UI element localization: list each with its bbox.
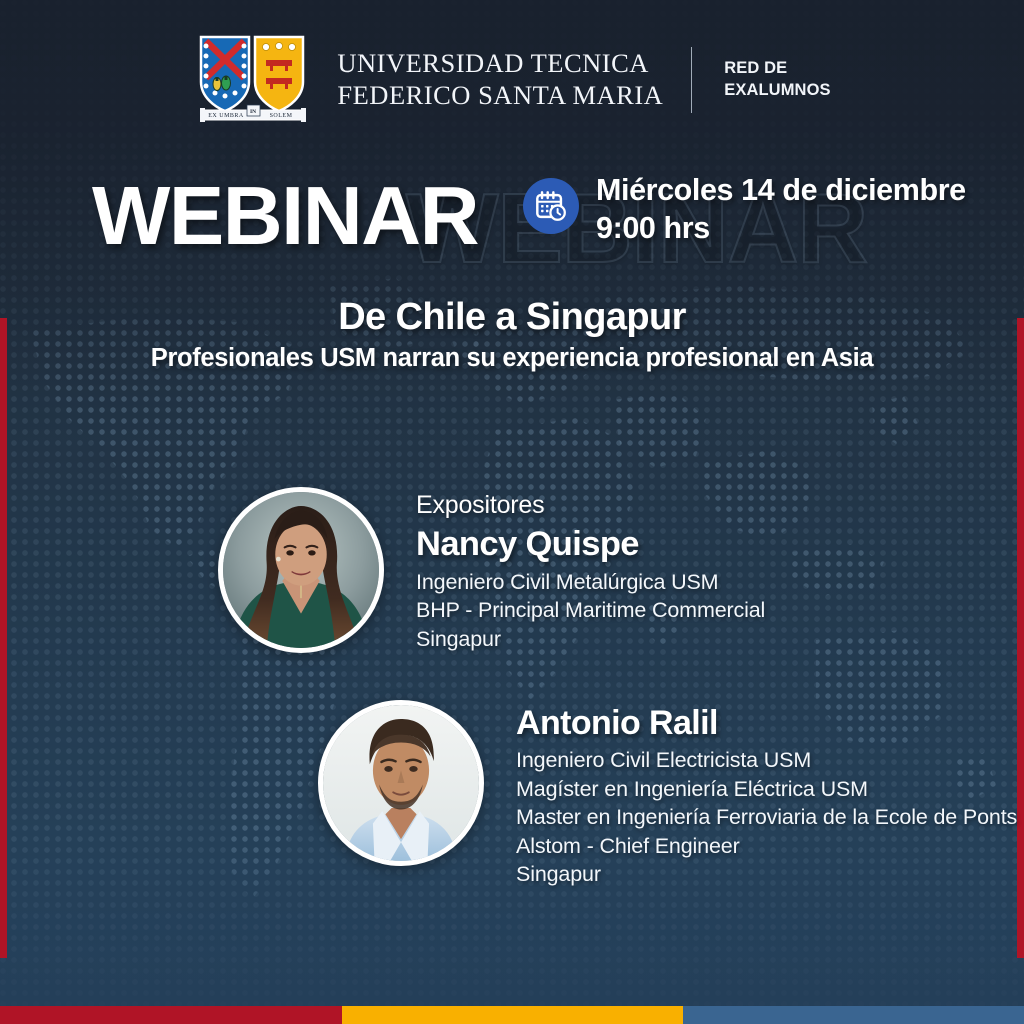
speaker-photo-antonio-ralil (318, 700, 484, 866)
speaker-detail-line: Singapur (516, 860, 1017, 889)
speakers-eyebrow-label: Expositores (416, 491, 765, 520)
speaker-detail-line: Singapur (416, 625, 765, 654)
university-name: UNIVERSIDAD TECNICA FEDERICO SANTA MARIA (337, 48, 663, 112)
footer-stripe-red (0, 1006, 342, 1024)
header-divider (691, 47, 692, 113)
speaker-card-nancy-quispe: Expositores Nancy Quispe Ingeniero Civil… (218, 487, 765, 653)
speaker-name: Antonio Ralil (516, 704, 1017, 742)
calendar-clock-icon (523, 178, 579, 234)
university-name-line-2: FEDERICO SANTA MARIA (337, 80, 663, 112)
webinar-poster: IN EX UMBRA SOLEM UNIVERSIDAD TECNICA FE… (0, 0, 1024, 1024)
brand-header: IN EX UMBRA SOLEM UNIVERSIDAD TECNICA FE… (0, 34, 1024, 126)
university-name-line-1: UNIVERSIDAD TECNICA (337, 48, 663, 80)
webinar-time: 9:00 hrs (596, 210, 966, 248)
svg-text:IN: IN (250, 109, 256, 115)
speaker-info-nancy-quispe: Expositores Nancy Quispe Ingeniero Civil… (416, 487, 765, 653)
footer-color-bar (0, 1006, 1024, 1024)
alumni-network-label: RED DE EXALUMNOS (724, 58, 830, 102)
svg-text:SOLEM: SOLEM (270, 113, 293, 119)
right-red-edge-stripe (1017, 318, 1024, 958)
left-red-edge-stripe (0, 318, 7, 958)
speaker-detail-line: BHP - Principal Maritime Commercial (416, 596, 765, 625)
webinar-date: Miércoles 14 de diciembre (596, 172, 966, 210)
speaker-info-antonio-ralil: Antonio Ralil Ingeniero Civil Electricis… (516, 700, 1017, 889)
svg-text:EX UMBRA: EX UMBRA (209, 113, 245, 119)
webinar-hero-row: WEBINAR WEBINAR (0, 160, 1024, 290)
usm-coat-of-arms-icon: IN EX UMBRA SOLEM (193, 34, 315, 126)
speaker-detail-line: Ingeniero Civil Metalúrgica USM (416, 568, 765, 597)
alumni-network-line-2: EXALUMNOS (724, 80, 830, 102)
speaker-detail-line: Ingeniero Civil Electricista USM (516, 746, 1017, 775)
footer-stripe-blue (683, 1006, 1024, 1024)
speaker-name: Nancy Quispe (416, 525, 765, 564)
webinar-title: WEBINAR (92, 168, 478, 264)
talk-subtitle: Profesionales USM narran su experiencia … (0, 344, 1024, 373)
talk-title-block: De Chile a Singapur Profesionales USM na… (0, 296, 1024, 373)
speaker-photo-nancy-quispe (218, 487, 384, 653)
speaker-detail-line: Magíster en Ingeniería Eléctrica USM (516, 775, 1017, 804)
alumni-network-line-1: RED DE (724, 58, 830, 80)
speaker-detail-line: Master en Ingeniería Ferroviaria de la E… (516, 803, 1017, 832)
date-time-block: Miércoles 14 de diciembre 9:00 hrs (523, 172, 966, 248)
talk-title: De Chile a Singapur (0, 296, 1024, 339)
speaker-detail-line: Alstom - Chief Engineer (516, 832, 1017, 861)
footer-stripe-yellow (342, 1006, 683, 1024)
speaker-card-antonio-ralil: Antonio Ralil Ingeniero Civil Electricis… (318, 700, 1017, 889)
